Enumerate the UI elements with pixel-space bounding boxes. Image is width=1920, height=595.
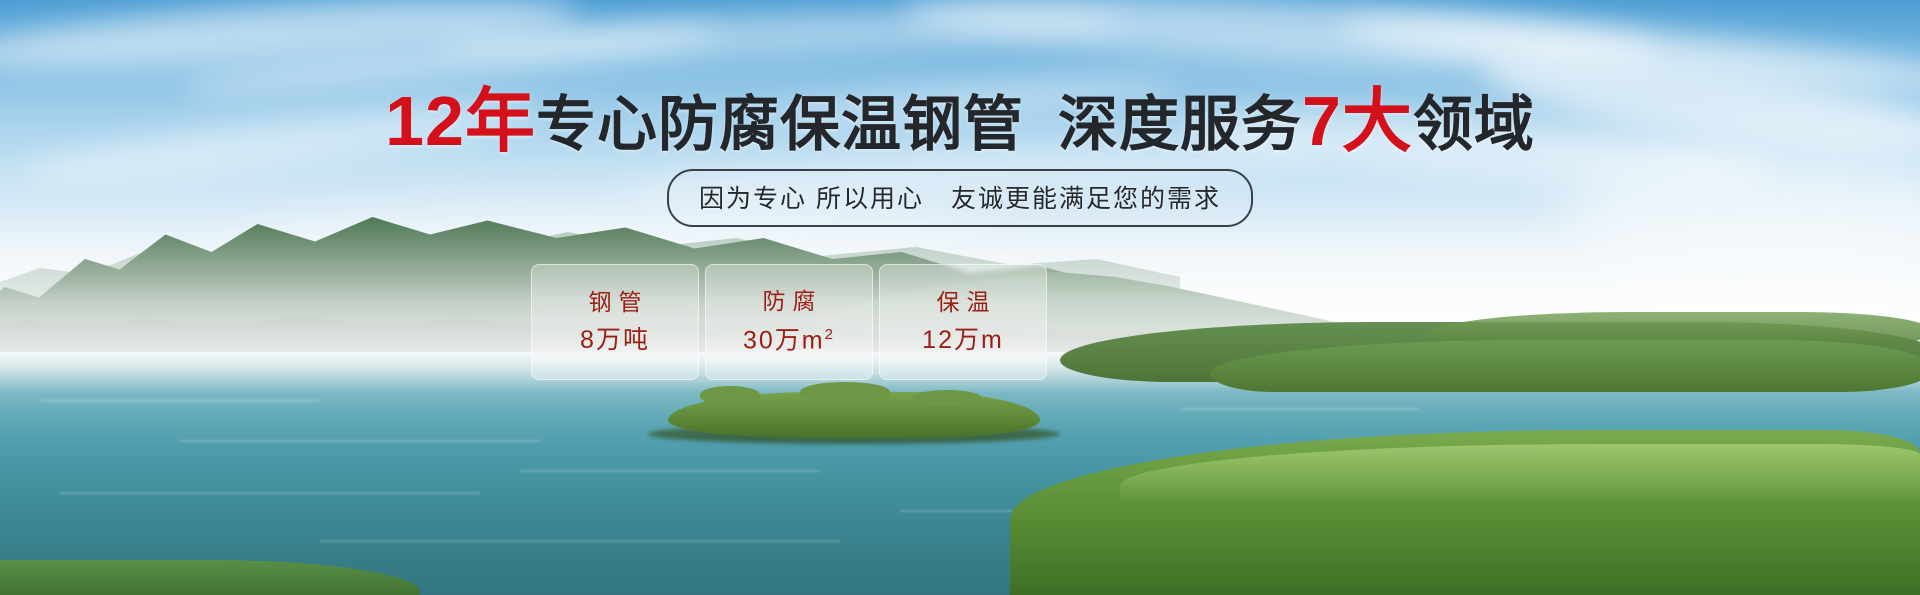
subtitle-pill: 因为专心 所以用心 友诚更能满足您的需求 — [667, 169, 1253, 227]
grass-tuft — [700, 386, 760, 404]
stat-card-value-exponent: 2 — [825, 326, 835, 343]
grass-tuft — [800, 382, 890, 402]
stat-card-insulation[interactable]: 保温 12万m — [879, 264, 1047, 380]
stat-card-value: 8万吨 — [580, 328, 650, 353]
stat-card-value-base: 8万吨 — [580, 326, 650, 354]
stat-card-steel-pipe[interactable]: 钢管 8万吨 — [531, 264, 699, 380]
water-ripple — [320, 540, 840, 542]
stat-card-anticorrosion[interactable]: 防腐 30万m2 — [705, 264, 873, 380]
water-ripple — [180, 440, 540, 442]
subtitle-text: 因为专心 所以用心 友诚更能满足您的需求 — [699, 185, 1221, 213]
water-ripple — [1180, 408, 1420, 410]
water-ripple — [60, 492, 480, 494]
headline-fields: 领域 — [1413, 91, 1535, 158]
stat-card-value-base: 12万m — [922, 326, 1004, 354]
headline-years: 12年 — [385, 82, 536, 160]
stat-card-label: 防腐 — [756, 290, 823, 313]
stat-card-label: 保温 — [930, 291, 997, 314]
stat-card-value-base: 30万m — [743, 327, 825, 355]
promo-banner: 12年专心防腐保温钢管深度服务7大领域 因为专心 所以用心 友诚更能满足您的需求… — [0, 0, 1920, 595]
stat-card-group: 钢管 8万吨 防腐 30万m2 保温 12万m — [531, 264, 1047, 380]
stat-card-value: 12万m — [922, 328, 1004, 353]
water-ripple — [520, 470, 820, 472]
headline-service: 深度服务 — [1058, 91, 1302, 158]
headline: 12年专心防腐保温钢管深度服务7大领域 — [0, 86, 1920, 156]
headline-main: 专心防腐保温钢管 — [536, 91, 1024, 158]
marsh-bank-mid — [1210, 340, 1920, 392]
headline-seven: 7大 — [1302, 82, 1413, 160]
stat-card-value: 30万m2 — [743, 327, 835, 353]
stat-card-label: 钢管 — [582, 291, 649, 314]
grass-tuft — [912, 390, 982, 406]
water-ripple — [40, 400, 320, 402]
